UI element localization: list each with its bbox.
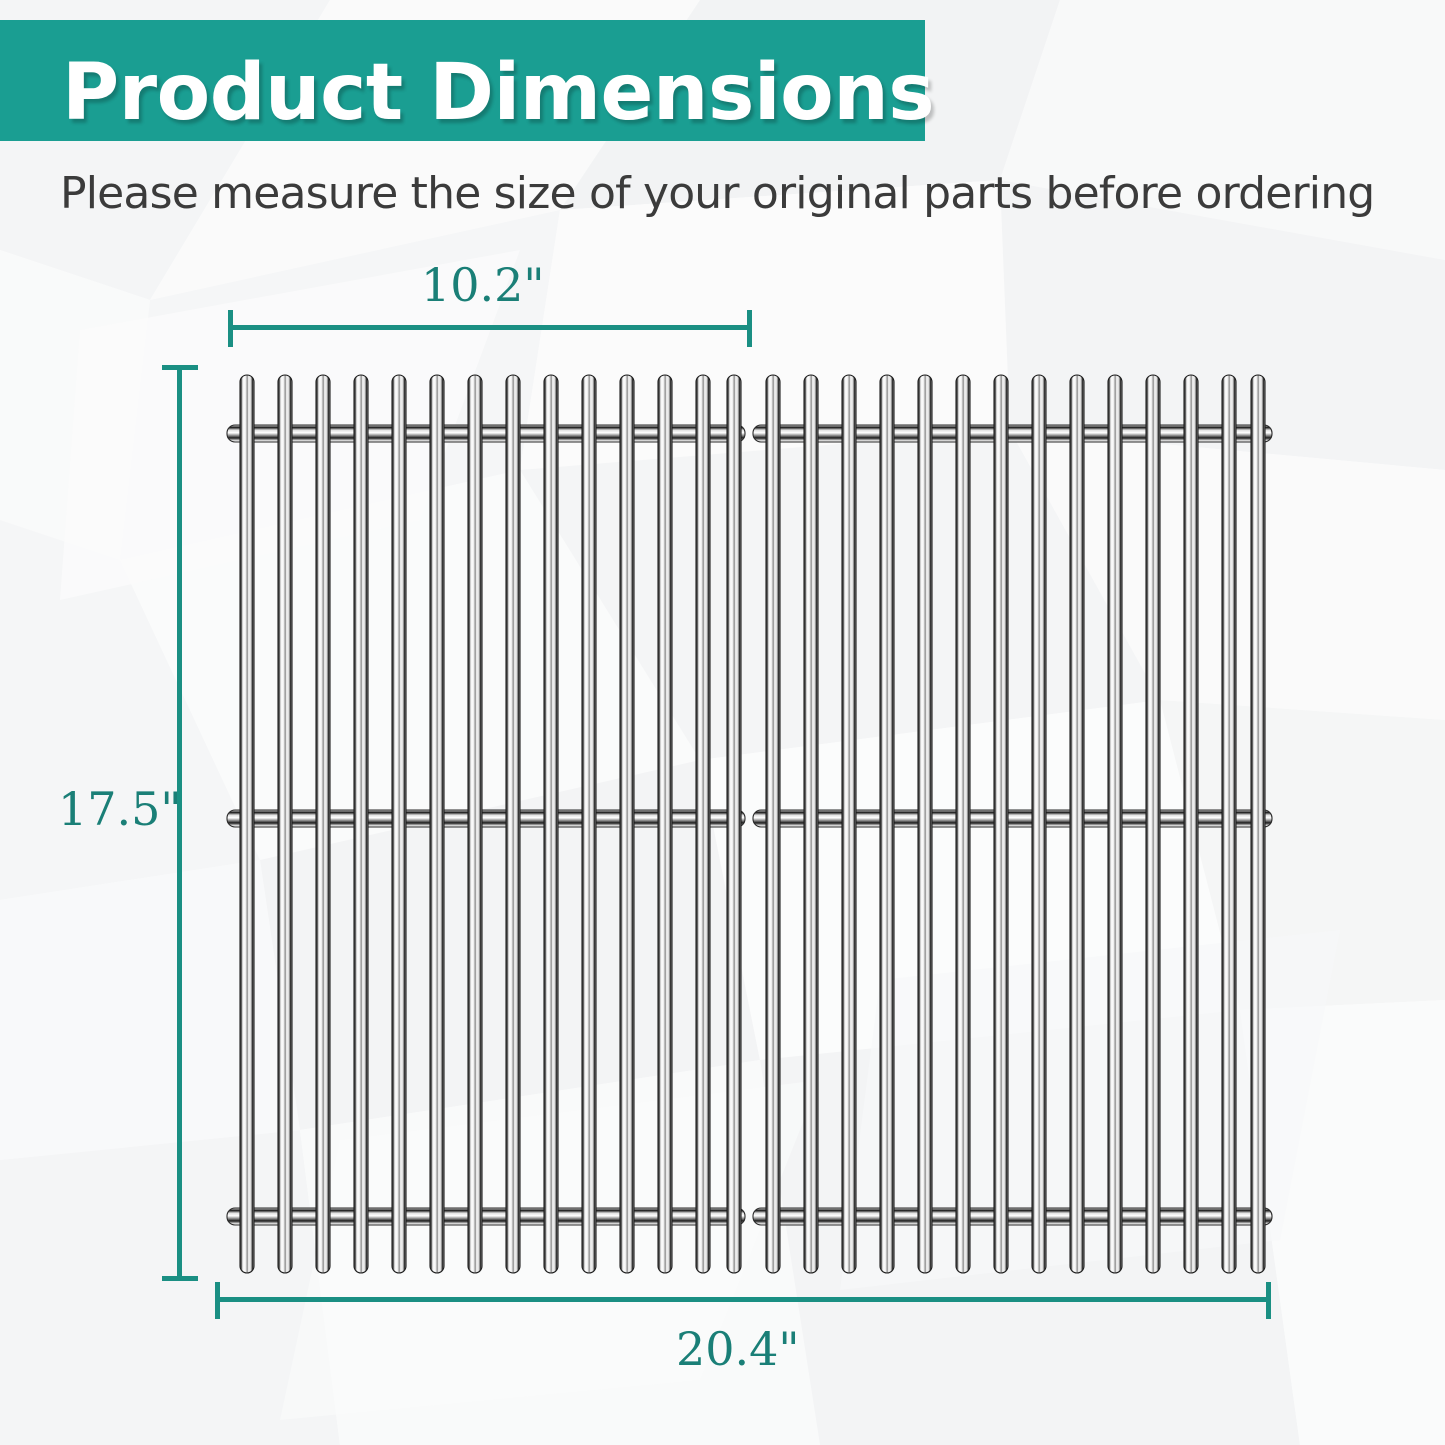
dimension-cap-top-left — [228, 310, 233, 347]
dimension-line-left — [177, 365, 182, 1281]
dimension-line-bottom — [215, 1297, 1271, 1302]
dimension-line-top — [228, 325, 752, 330]
page-title: Product Dimensions — [62, 54, 934, 132]
dimension-cap-left-top — [162, 365, 198, 370]
dimension-label-top: 10.2" — [421, 258, 545, 312]
dimension-label-bottom: 20.4" — [676, 1322, 800, 1376]
dimension-cap-top-right — [747, 310, 752, 347]
dimension-label-left: 17.5" — [58, 782, 182, 836]
dimension-cap-bottom-left — [215, 1282, 220, 1319]
dimension-cap-left-bottom — [162, 1276, 198, 1281]
subtitle-instruction: Please measure the size of your original… — [60, 168, 1374, 219]
header-banner: Product Dimensions — [0, 20, 925, 141]
dimension-cap-bottom-right — [1266, 1282, 1271, 1319]
product-dimensions-infographic: Product Dimensions Please measure the si… — [0, 0, 1445, 1445]
